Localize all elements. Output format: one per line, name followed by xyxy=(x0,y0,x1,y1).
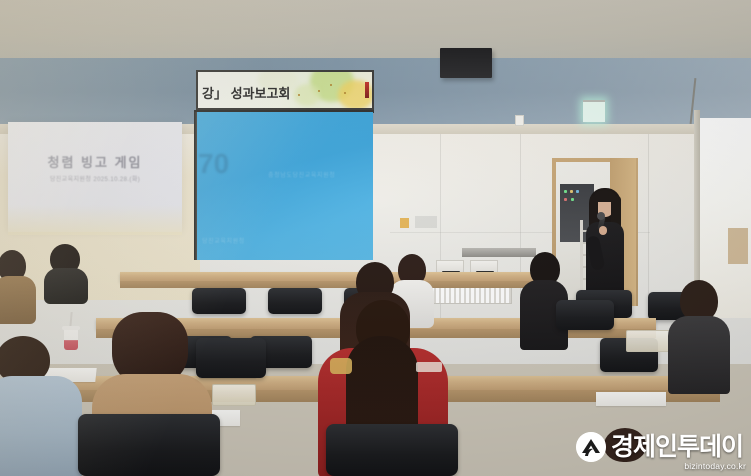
chair xyxy=(556,300,614,330)
chair-foreground xyxy=(78,414,220,476)
screen-ghost-number: 70 xyxy=(198,148,229,180)
drink-cup-lid xyxy=(62,326,80,330)
chair xyxy=(268,288,322,314)
slide-title: 청렴 빙고 게임 xyxy=(8,152,182,171)
presenter-with-microphone xyxy=(583,188,627,306)
screen-left-light-falloff xyxy=(8,205,182,235)
audience-person xyxy=(44,244,88,300)
screen-watermark-bottom: 당진교육지원청 xyxy=(202,236,245,245)
paper-sheet xyxy=(596,392,666,406)
brand-name: 경제인투데이 xyxy=(611,435,743,460)
press-watermark: 경제인투데이 bizintoday.co.kr xyxy=(576,424,748,470)
photo-canvas: 청렴 빙고 게임 당진교육지원청 2025.10.28.(화) 강」 성과보고회… xyxy=(0,0,751,476)
audience-person xyxy=(668,280,730,390)
banner-edge-marker xyxy=(365,82,369,98)
event-banner: 강」 성과보고회 xyxy=(198,72,372,108)
chair xyxy=(192,288,246,314)
audience-person xyxy=(0,250,38,320)
brand-logo-icon xyxy=(576,432,606,462)
chair-foreground xyxy=(326,424,458,476)
wall-notice-icon xyxy=(400,218,409,228)
ceiling-speaker-icon xyxy=(440,48,492,78)
audience-person-blue-shirt xyxy=(0,336,82,476)
window-sill-object xyxy=(728,228,748,264)
screen-watermark-top: 충청남도당진교육지원청 xyxy=(268,170,335,179)
wall-switch-icon xyxy=(515,115,524,126)
slide-subtitle: 당진교육지원청 2025.10.28.(화) xyxy=(8,174,182,183)
event-banner-text: 강」 성과보고회 xyxy=(202,83,290,102)
chair xyxy=(196,338,266,378)
wall-notice-sheet xyxy=(415,216,437,228)
lunch-container xyxy=(212,384,256,406)
event-banner-frame: 강」 성과보고회 xyxy=(196,70,374,110)
brand-url: bizintoday.co.kr xyxy=(684,461,746,471)
emergency-exit-light-icon xyxy=(583,100,605,122)
